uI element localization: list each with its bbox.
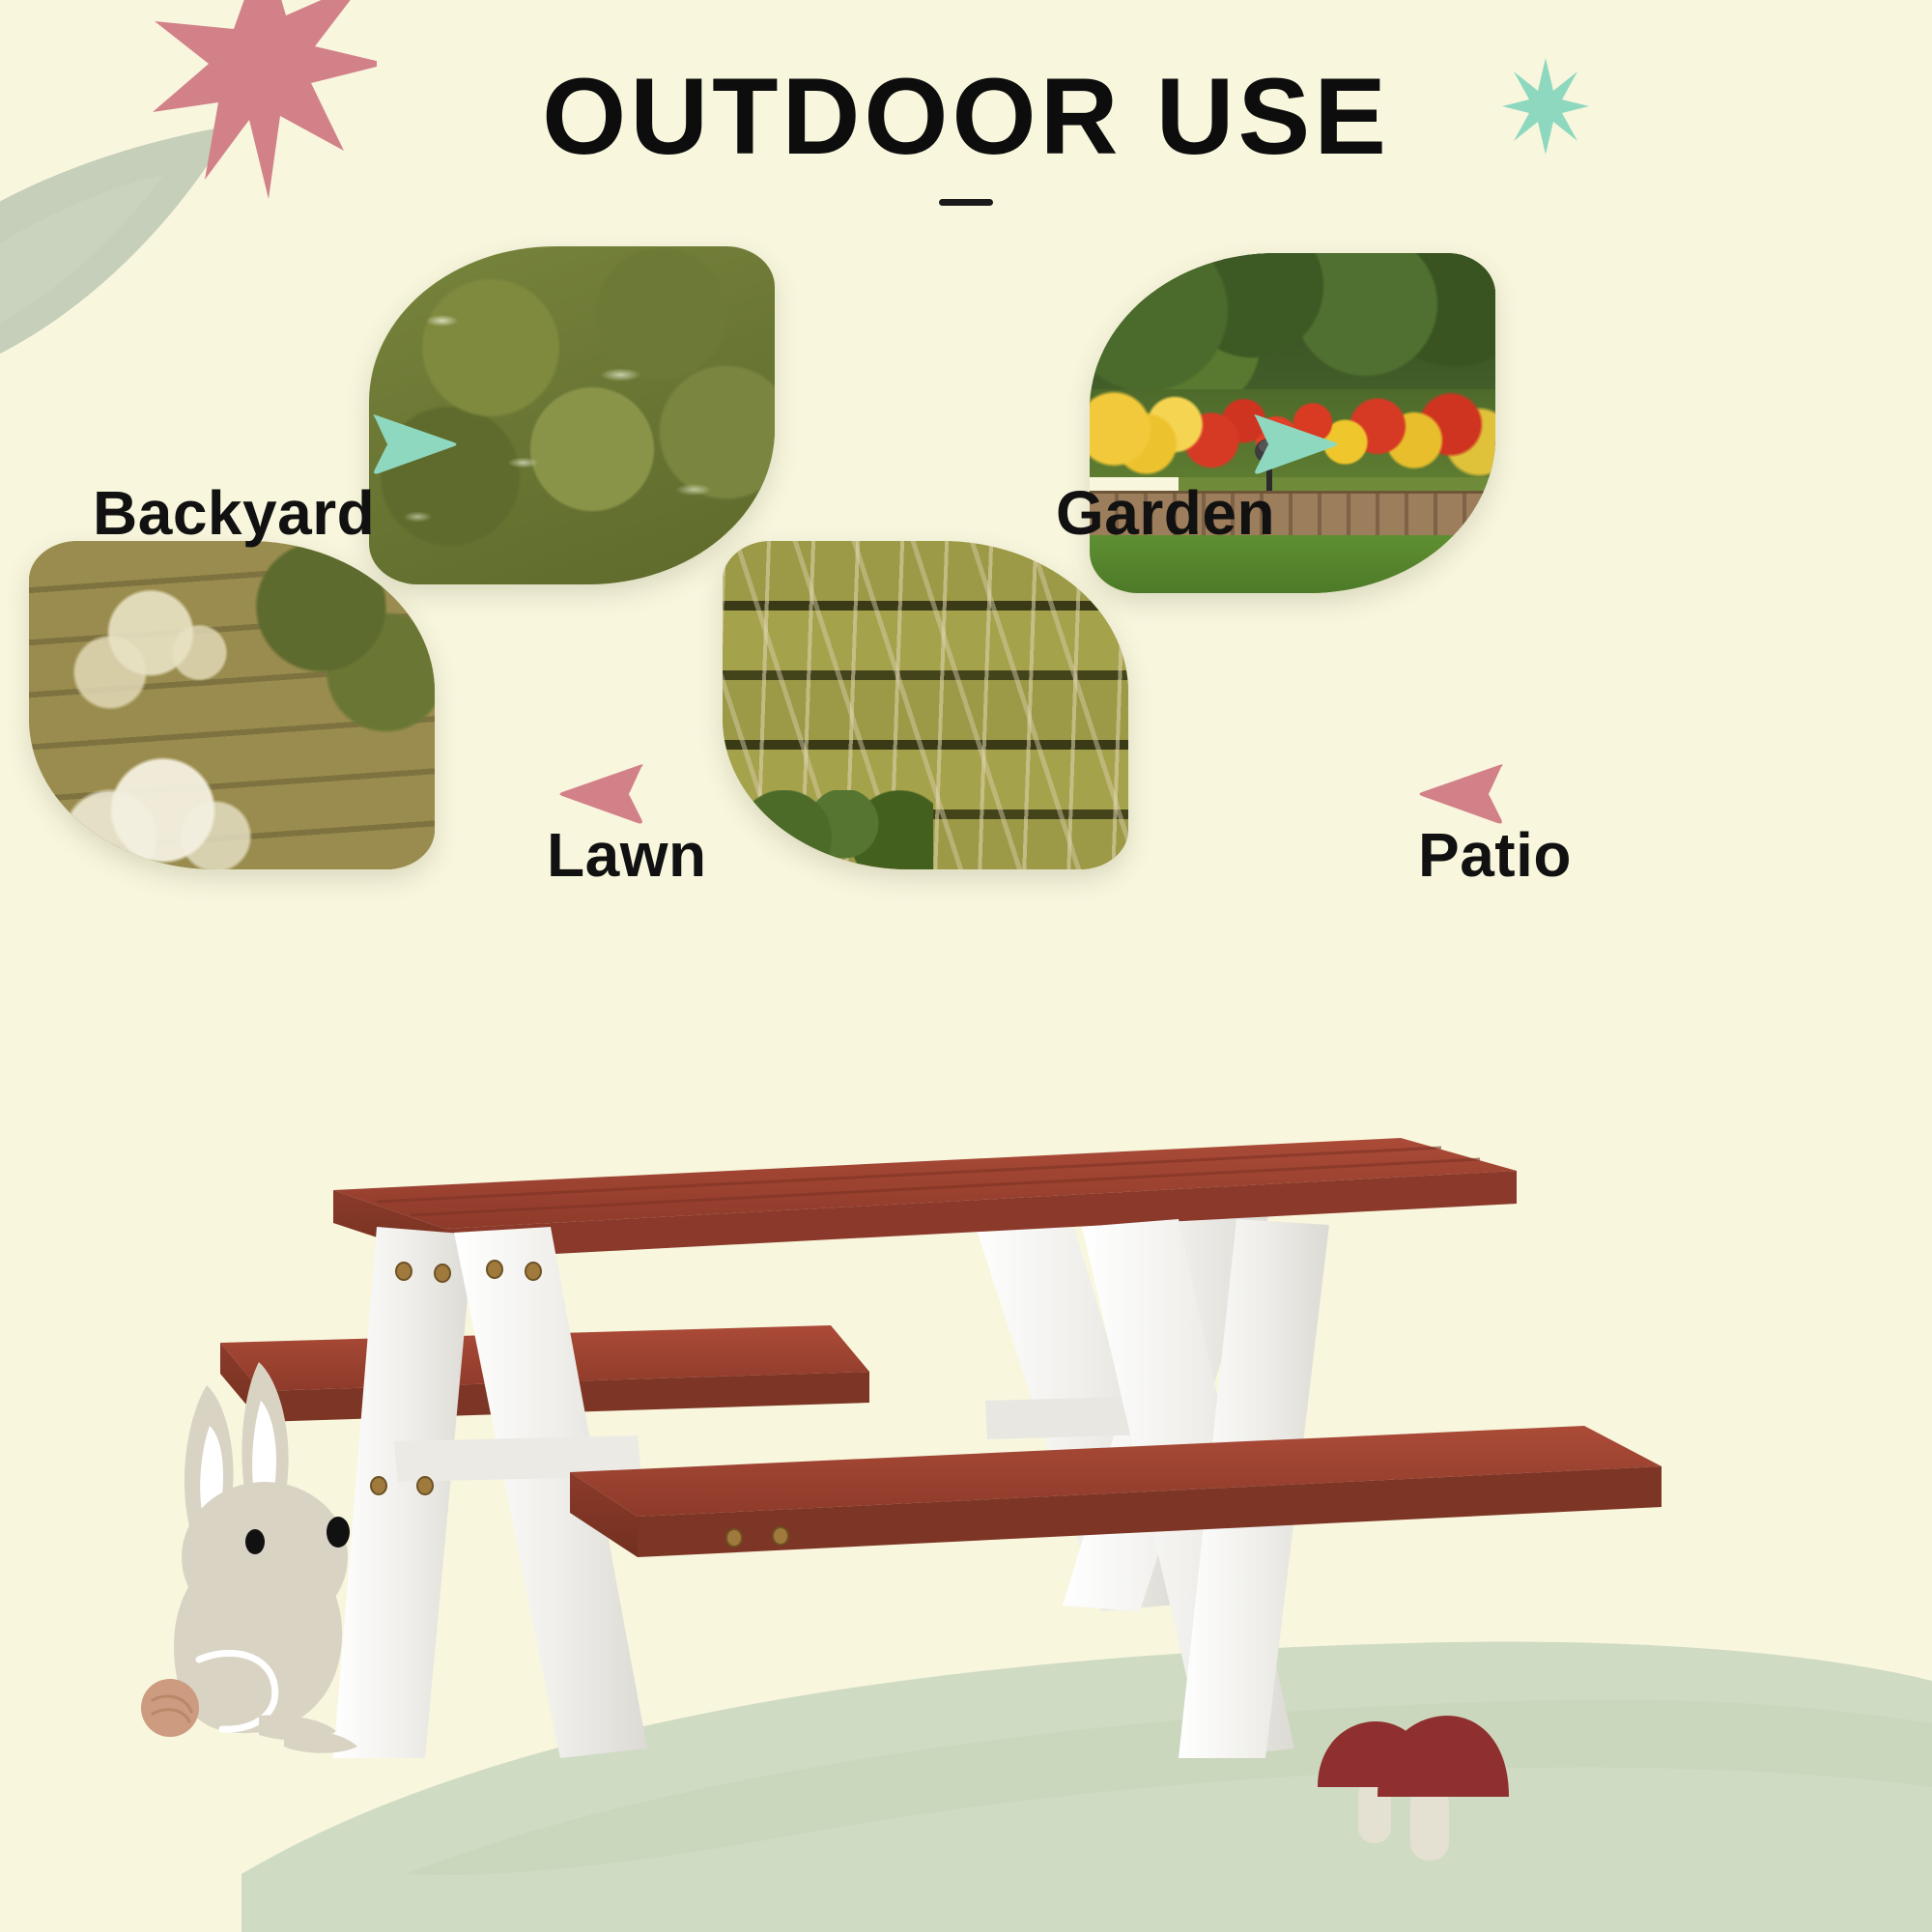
page-title: OUTDOOR USE (0, 60, 1932, 174)
mushroom-illustration-icon (1302, 1708, 1515, 1862)
infographic-canvas: OUTDOOR USE (0, 0, 1932, 1932)
feature-photo-lawn (29, 541, 435, 869)
product-picnic-table (135, 1082, 1835, 1797)
patio-shrub (747, 790, 933, 869)
arrow-left-icon (1418, 763, 1507, 825)
title-block: OUTDOOR USE (0, 60, 1932, 206)
feature-label-backyard: Backyard (93, 477, 375, 549)
bunny-illustration-icon (114, 1352, 384, 1768)
lawn-hydrangea-image (29, 541, 435, 869)
feature-label-patio: Patio (1418, 819, 1572, 891)
feature-label-lawn: Lawn (547, 819, 707, 891)
title-divider (939, 199, 993, 206)
feature-label-garden: Garden (1056, 477, 1275, 549)
patio-fence-image (723, 541, 1128, 869)
feature-photo-patio (723, 541, 1128, 869)
arrow-right-icon (1250, 413, 1339, 475)
arrow-left-icon (558, 763, 647, 825)
arrow-right-icon (369, 413, 458, 475)
